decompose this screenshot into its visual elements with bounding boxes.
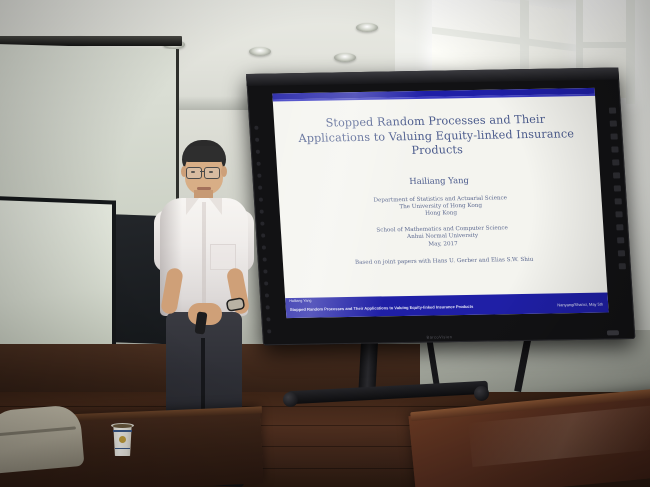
fabric-bag — [0, 404, 85, 474]
slide-title: Stopped Random Processes and Their Appli… — [273, 98, 599, 161]
whiteboard — [0, 196, 116, 359]
slide-affiliation-secondary: School of Mathematics and Computer Scien… — [281, 224, 605, 251]
eyeglasses-icon — [186, 167, 202, 179]
slide-footer-title: Stopped Random Processes and Their Appli… — [290, 304, 474, 312]
shirt-pocket — [210, 244, 236, 270]
caster-wheel-icon — [474, 386, 489, 401]
slide-author: Hailiang Yang — [278, 172, 601, 188]
caster-wheel-icon — [283, 392, 298, 407]
window-mullion — [578, 42, 632, 48]
ceiling-light-icon — [334, 53, 356, 62]
eyeglasses-icon — [204, 167, 220, 179]
hair-fringe — [183, 146, 225, 162]
paper-cup-logo-icon — [119, 436, 126, 443]
shirt-placket — [202, 202, 206, 312]
flat-panel-display[interactable]: Stopped Random Processes and Their Appli… — [246, 68, 635, 346]
paper-cup-contents — [113, 424, 132, 428]
slide-footer-right: Nanyang/Shanxi, May 5th — [557, 302, 603, 308]
slide-footer-author: Hailiang Yang — [289, 299, 311, 303]
shirt-collar-left — [186, 198, 199, 215]
ceiling-light-icon — [356, 23, 378, 32]
eyeglasses-bridge — [200, 171, 204, 172]
ear-right — [221, 166, 227, 177]
ceiling-light-icon — [249, 47, 271, 56]
presentation-slide: Stopped Random Processes and Their Appli… — [272, 88, 608, 318]
paper-cup-band — [113, 430, 132, 432]
paper-cup-band — [115, 448, 130, 449]
window-mullion — [626, 0, 635, 104]
slide-acknowledgement: Based on joint papers with Hans U. Gerbe… — [283, 255, 606, 267]
display-brand-logo: BarcoVision — [426, 334, 452, 339]
slide-affiliation-primary: Department of Statistics and Actuarial S… — [279, 193, 603, 220]
photo-scene: Stopped Random Processes and Their Appli… — [0, 0, 650, 487]
slide-body: Stopped Random Processes and Their Appli… — [273, 98, 607, 296]
ir-receiver-icon — [607, 330, 619, 335]
shirt-collar-right — [209, 198, 222, 215]
